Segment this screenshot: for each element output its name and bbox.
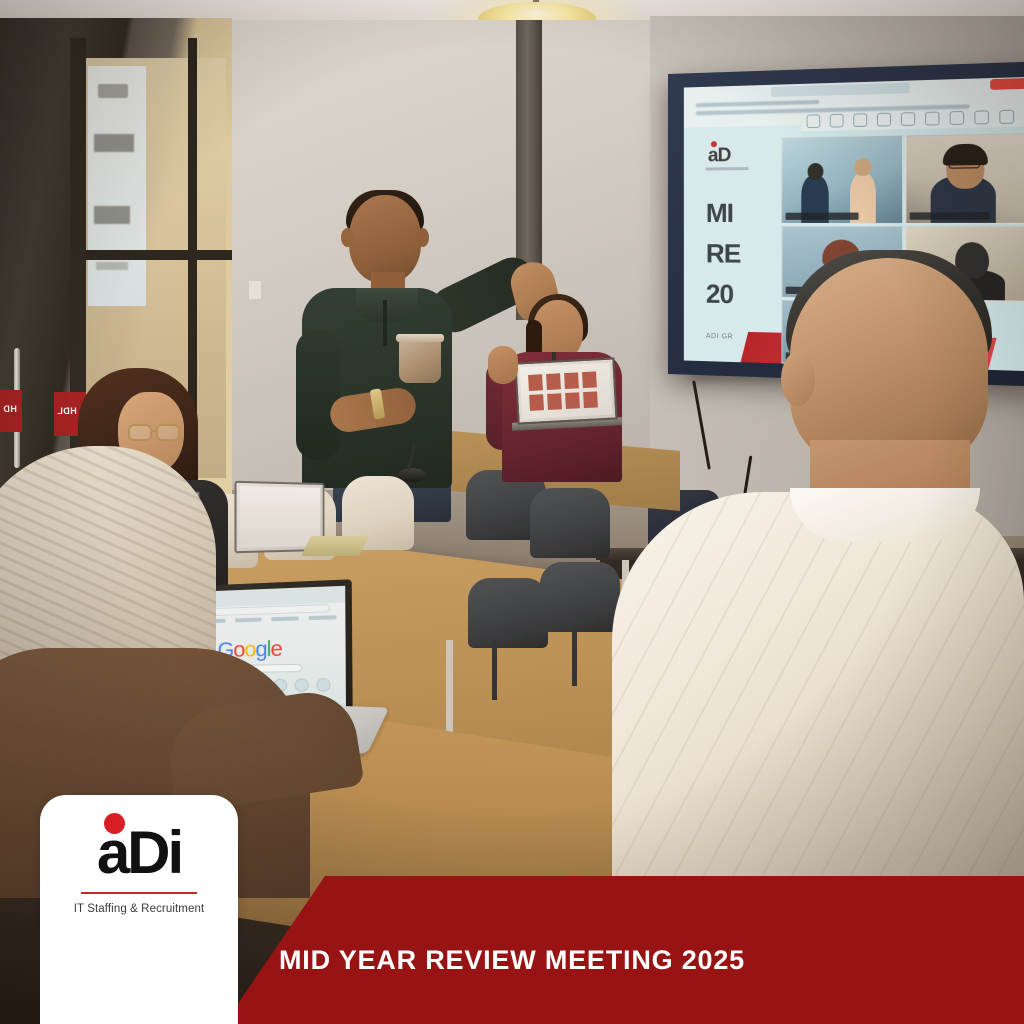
- door-sign-left: HD: [0, 390, 22, 432]
- ribbon-icon-mic[interactable]: [807, 114, 821, 128]
- meeting-title-chip: [771, 83, 910, 97]
- poster-reflection: [88, 66, 146, 306]
- google-logo-letter: e: [270, 637, 281, 661]
- laptop-screen: [240, 486, 320, 548]
- bookmark-item[interactable]: [235, 618, 262, 623]
- attendee-white-shirt-head: [790, 258, 988, 468]
- chair: [530, 488, 610, 558]
- presenter-ear-left: [341, 228, 354, 247]
- logo-tagline: IT Staffing & Recruitment: [74, 903, 205, 915]
- logo-divider: [81, 892, 197, 894]
- tile-name-label: [786, 213, 859, 220]
- slide-footer: ADI GR: [706, 333, 733, 341]
- slide-logo: aD: [708, 145, 731, 168]
- presenter-left-arm: [296, 330, 340, 460]
- presenter-head: [349, 195, 421, 283]
- reflected-line-2: [94, 206, 130, 224]
- presenter-placket: [383, 300, 387, 346]
- presenter-ear-right: [416, 228, 429, 247]
- ribbon-icon-camera[interactable]: [830, 114, 844, 128]
- video-tile[interactable]: [781, 136, 903, 224]
- ribbon-icon-more[interactable]: [999, 110, 1014, 124]
- eyeglasses-icon: [128, 424, 152, 441]
- bookmark-item[interactable]: [271, 616, 298, 621]
- slide-line-1: MI: [706, 198, 733, 229]
- toolbar-line-1: [696, 100, 819, 107]
- bookmark-item[interactable]: [308, 615, 336, 620]
- slide-logo-underline: [706, 167, 749, 171]
- end-meeting-button[interactable]: [990, 78, 1024, 90]
- eyeglasses-bridge: [151, 430, 158, 432]
- chair: [540, 562, 620, 632]
- shortcut-tile[interactable]: [294, 678, 308, 692]
- ribbon-icon-record[interactable]: [950, 111, 965, 125]
- door-sign-right-label: HDL: [57, 406, 77, 416]
- chair-leg: [572, 626, 577, 686]
- presenter-collar: [356, 288, 418, 322]
- shirt-folds: [612, 492, 1024, 942]
- ribbon-icon-react[interactable]: [877, 113, 891, 127]
- conference-mic-puck: [398, 468, 426, 482]
- tile-name-label: [910, 212, 989, 220]
- coffee-cup: [399, 337, 441, 383]
- google-logo-letter: g: [255, 638, 266, 662]
- wall-socket: [248, 280, 262, 300]
- video-tile[interactable]: [905, 133, 1024, 224]
- held-laptop-screen: [520, 363, 613, 420]
- ribbon-icon-chat[interactable]: [901, 112, 915, 126]
- eyeglasses-icon: [156, 424, 180, 441]
- reflected-line-1: [94, 134, 134, 152]
- door-mullion-horizontal: [86, 250, 232, 260]
- notebook: [301, 536, 369, 556]
- door-sign-left-label: HD: [3, 404, 17, 414]
- slide-line-3: 20: [706, 278, 733, 310]
- attendee-maroon-hand: [488, 346, 518, 384]
- reflected-logo: [98, 84, 128, 98]
- ribbon-icons[interactable]: [807, 109, 1024, 131]
- meeting-photo-card: HD HDL: [0, 0, 1024, 1024]
- held-laptop: [514, 357, 617, 424]
- google-logo-letter: o: [244, 638, 255, 662]
- chair: [468, 578, 548, 648]
- ribbon-icon-people[interactable]: [925, 111, 939, 125]
- ribbon-icon-apps[interactable]: [974, 110, 989, 124]
- shirt-collar: [790, 488, 980, 542]
- slide-line-2: RE: [706, 238, 741, 270]
- shortcut-tile[interactable]: [316, 678, 330, 692]
- logo-mark: aDi: [97, 819, 181, 881]
- brand-logo[interactable]: aDi IT Staffing & Recruitment: [40, 795, 238, 1024]
- meeting-app-toolbar: [684, 76, 1024, 133]
- logo-dot-icon: [104, 813, 125, 834]
- attendee-white-shirt-ear: [781, 352, 815, 406]
- coffee-cup-lid: [396, 334, 444, 342]
- ribbon-icon-share[interactable]: [853, 113, 867, 127]
- reflected-line-3: [96, 262, 128, 270]
- chair-leg: [492, 640, 497, 700]
